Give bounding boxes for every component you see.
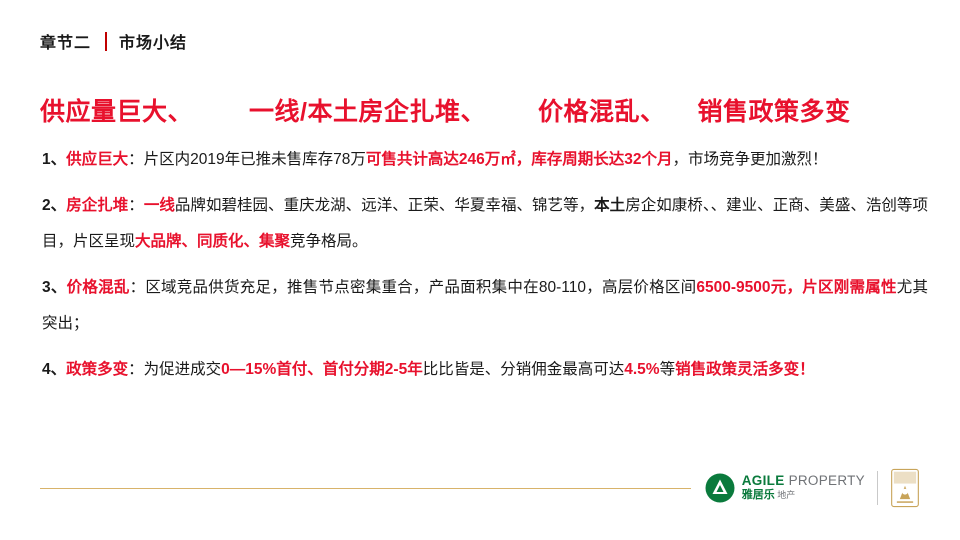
chapter-label: 章节二 bbox=[40, 29, 91, 53]
paragraph-label: 政策多变 bbox=[66, 361, 128, 378]
paragraph-text: ，市场竞争更加激烈！ bbox=[672, 151, 827, 168]
slide-header: 章节二 市场小结 bbox=[40, 28, 187, 54]
logo-en-bold: AGILE bbox=[742, 473, 785, 488]
paragraph-highlight: 大品牌、同质化、集聚 bbox=[135, 233, 290, 250]
paragraph-text: ： bbox=[128, 197, 144, 214]
paragraph-highlight: 4.5% bbox=[624, 361, 659, 378]
paragraph-number: 2、 bbox=[42, 197, 66, 214]
logo-en-light: PROPERTY bbox=[785, 473, 865, 488]
section-subtitle: 市场小结 bbox=[119, 29, 187, 53]
logo-wordmark: AGILE PROPERTY 雅居乐 地产 bbox=[742, 474, 865, 502]
logo-cn-grey: 地产 bbox=[775, 490, 796, 500]
logo-en-line: AGILE PROPERTY bbox=[742, 474, 865, 488]
paragraph-text: ：为促进成交 bbox=[128, 361, 221, 378]
paragraph-text: 竞争格局。 bbox=[290, 233, 368, 250]
paragraph-label: 供应巨大 bbox=[66, 151, 128, 168]
paragraph-label: 房企扎堆 bbox=[66, 197, 128, 214]
paragraph-text: 等 bbox=[660, 361, 676, 378]
agile-triangle-icon bbox=[705, 473, 735, 503]
paragraph-supply: 1、供应巨大：片区内2019年已推未售库存78万可售共计高达246万㎡，库存周期… bbox=[42, 142, 928, 178]
paragraph-number: 4、 bbox=[42, 361, 66, 378]
paragraph-number: 3、 bbox=[42, 279, 67, 296]
logo-separator bbox=[877, 471, 878, 505]
paragraph-developers: 2、房企扎堆：一线品牌如碧桂园、重庆龙湖、远洋、正荣、华夏幸福、锦艺等，本土房企… bbox=[42, 188, 928, 260]
brand-logo: AGILE PROPERTY 雅居乐 地产 bbox=[691, 466, 920, 510]
paragraph-price: 3、价格混乱：区域竞品供货充足，推售节点密集重合，产品面积集中在80-110，高… bbox=[42, 270, 928, 342]
paragraph-highlight: 可售共计高达246万㎡，库存周期长达32个月 bbox=[366, 151, 673, 168]
title-item-price: 价格混乱、 bbox=[538, 92, 666, 128]
paragraph-policy: 4、政策多变：为促进成交0—15%首付、首付分期2-5年比比皆是、分销佣金最高可… bbox=[42, 352, 928, 388]
title-item-developers: 一线/本土房企扎堆、 bbox=[249, 92, 486, 128]
slide: 章节二 市场小结 供应量巨大、 一线/本土房企扎堆、 价格混乱、 销售政策多变 … bbox=[0, 0, 960, 540]
paragraph-text: ：片区内2019年已推未售库存78万 bbox=[128, 151, 366, 168]
summary-body: 1、供应巨大：片区内2019年已推未售库存78万可售共计高达246万㎡，库存周期… bbox=[42, 142, 928, 398]
paragraph-text: 品牌如碧桂园、重庆龙湖、远洋、正荣、华夏幸福、锦艺等， bbox=[175, 197, 594, 214]
title-item-supply: 供应量巨大、 bbox=[40, 92, 193, 128]
header-divider bbox=[105, 32, 107, 51]
title-item-policy: 销售政策多变 bbox=[697, 92, 850, 128]
paragraph-highlight: 销售政策灵活多变！ bbox=[675, 361, 815, 378]
paragraph-number: 1、 bbox=[42, 151, 66, 168]
paragraph-text: ，高层价格区间 bbox=[586, 279, 696, 296]
paragraph-highlight: 一线 bbox=[144, 197, 175, 214]
award-badge-icon bbox=[890, 468, 920, 508]
paragraph-highlight: 6500-9500元，片区刚需属性 bbox=[696, 279, 896, 296]
paragraph-text: ：区域竞品供货充足，推售节点密集重合，产品面积集中在80-110 bbox=[130, 279, 586, 296]
logo-cn-bold: 雅居乐 bbox=[742, 489, 775, 501]
summary-title-row: 供应量巨大、 一线/本土房企扎堆、 价格混乱、 销售政策多变 bbox=[40, 92, 920, 128]
paragraph-text: 比比皆是、分销佣金最高可达 bbox=[423, 361, 625, 378]
paragraph-label: 价格混乱 bbox=[67, 279, 130, 296]
paragraph-highlight: 0—15%首付、首付分期2-5年 bbox=[221, 361, 423, 378]
logo-cn-line: 雅居乐 地产 bbox=[742, 490, 865, 502]
paragraph-emphasis: 本土 bbox=[594, 197, 625, 214]
